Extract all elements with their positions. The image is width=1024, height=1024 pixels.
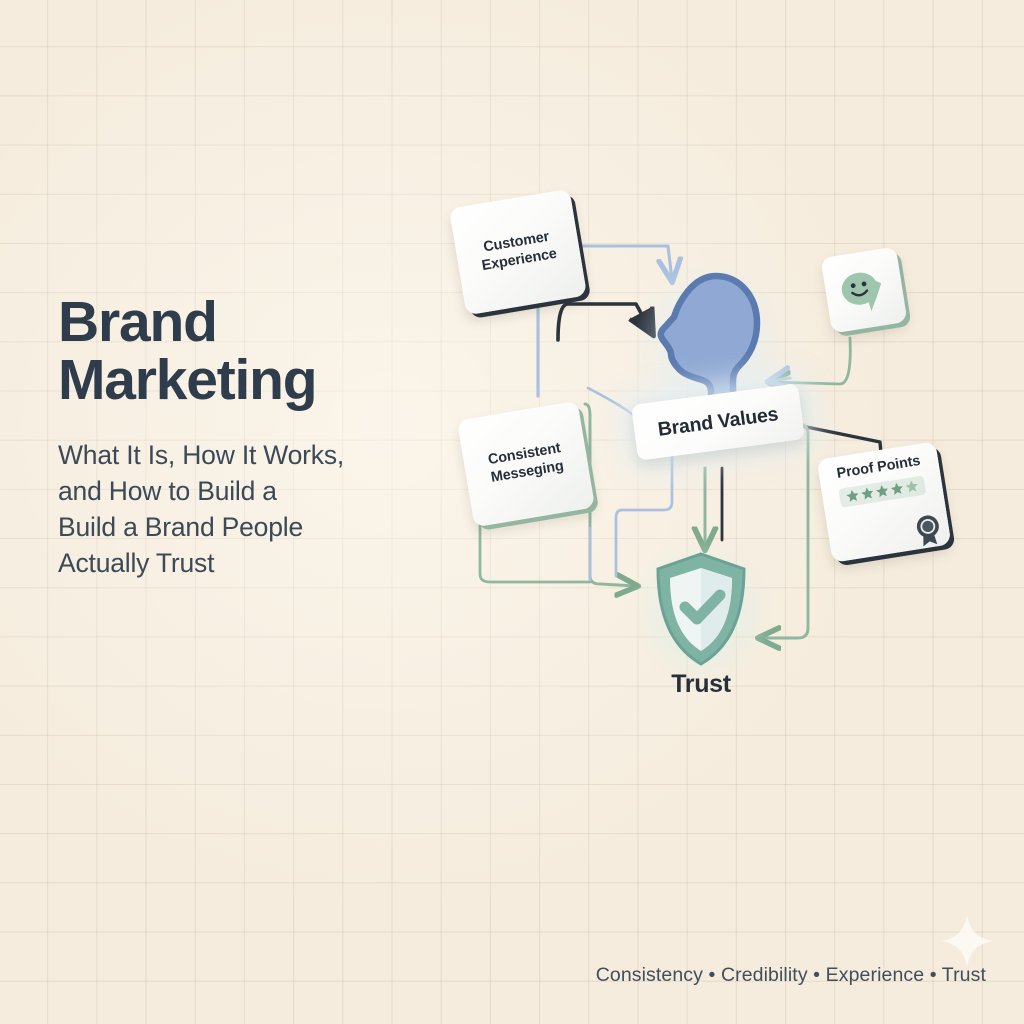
title-line-1: Brand: [58, 290, 217, 354]
proof-points-node[interactable]: Proof Points: [817, 441, 952, 562]
connector-sentiment-to-head: [770, 338, 850, 384]
title-line-2: Marketing: [58, 354, 458, 407]
star-icon: [889, 481, 905, 497]
star-icon: [845, 488, 861, 504]
award-badge-icon: [911, 510, 946, 548]
poster-canvas: Brand Marketing What It Is, How It Works…: [0, 0, 1024, 1024]
subtitle-line-2: and How to Build a: [58, 473, 458, 509]
consistent-messaging-node[interactable]: Consistent Messeging: [457, 401, 595, 528]
star-icon: [874, 483, 890, 499]
page-subtitle: What It Is, How It Works, and How to Bui…: [58, 437, 458, 581]
brand-trust-diagram: Brand Values Customer Experience Consist…: [440, 228, 960, 733]
consistent-messaging-label: Consistent Messeging: [481, 439, 571, 488]
subtitle-line-4: Actually Trust: [58, 545, 458, 581]
customer-experience-node[interactable]: Customer Experience: [449, 189, 587, 316]
connector-cx-to-head: [558, 304, 652, 340]
connector-cx-to-values: [588, 388, 636, 418]
star-icon: [904, 479, 920, 495]
subtitle-line-1: What It Is, How It Works,: [58, 437, 458, 473]
connector-proof-to-trust: [760, 424, 808, 638]
connector-head-right-arrow: [770, 378, 790, 381]
brand-values-label: Brand Values: [656, 403, 779, 442]
sparkle-star-icon: [937, 911, 997, 971]
shield-check-icon: [652, 550, 750, 668]
customer-sentiment-node[interactable]: [821, 247, 908, 334]
smiley-speech-bubble-icon: [832, 260, 895, 320]
hero-text-block: Brand Marketing What It Is, How It Works…: [58, 296, 458, 581]
star-icon: [860, 486, 876, 502]
footer-tagline: Consistency • Credibility • Experience •…: [596, 964, 986, 987]
customer-experience-label: Customer Experience: [472, 227, 564, 277]
subtitle-line-3: Build a Brand People: [58, 509, 458, 545]
trust-label: Trust: [640, 670, 762, 699]
page-title: Brand Marketing: [58, 296, 458, 407]
